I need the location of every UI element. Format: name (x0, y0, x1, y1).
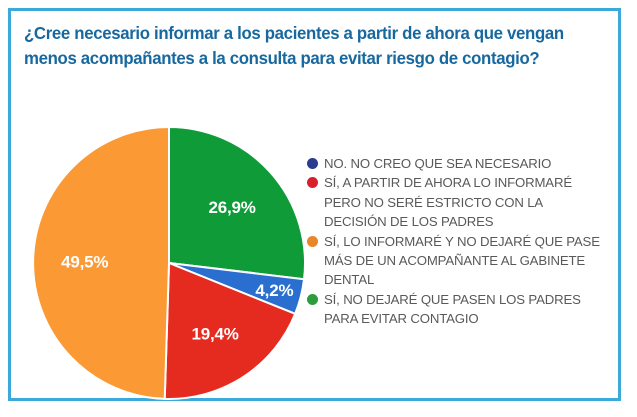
legend-item-label: SÍ, A PARTIR DE AHORA LO INFORMARÉ PERO … (324, 173, 607, 231)
legend-item-label: SÍ, NO DEJARÉ QUE PASEN LOS PADRES PARA … (324, 290, 607, 329)
legend-color-dot (307, 236, 318, 247)
pie-chart-svg: 26,9%4,2%19,4%49,5% (31, 125, 307, 401)
pie-slice-label: 19,4% (191, 325, 238, 344)
legend-color-dot (307, 294, 318, 305)
chart-area: 26,9%4,2%19,4%49,5% NO. NO CREO QUE SEA … (11, 116, 618, 401)
pie-slice-label: 4,2% (255, 281, 293, 300)
pie-slice-label: 49,5% (61, 253, 108, 272)
legend-item-label: SÍ, LO INFORMARÉ Y NO DEJARÉ QUE PASE MÁ… (324, 232, 607, 290)
pie-slice-label: 26,9% (208, 198, 255, 217)
page-title: ¿Cree necesario informar a los pacientes… (24, 21, 581, 71)
legend-color-dot (307, 177, 318, 188)
chart-legend: NO. NO CREO QUE SEA NECESARIOSÍ, A PARTI… (307, 154, 607, 329)
legend-item[interactable]: SÍ, A PARTIR DE AHORA LO INFORMARÉ PERO … (307, 173, 607, 231)
chart-frame: ¿Cree necesario informar a los pacientes… (8, 8, 621, 401)
legend-item[interactable]: SÍ, LO INFORMARÉ Y NO DEJARÉ QUE PASE MÁ… (307, 232, 607, 290)
legend-item[interactable]: SÍ, NO DEJARÉ QUE PASEN LOS PADRES PARA … (307, 290, 607, 329)
legend-item-label: NO. NO CREO QUE SEA NECESARIO (324, 154, 607, 173)
legend-item[interactable]: NO. NO CREO QUE SEA NECESARIO (307, 154, 607, 173)
pie-chart: 26,9%4,2%19,4%49,5% (31, 125, 307, 401)
legend-color-dot (307, 158, 318, 169)
